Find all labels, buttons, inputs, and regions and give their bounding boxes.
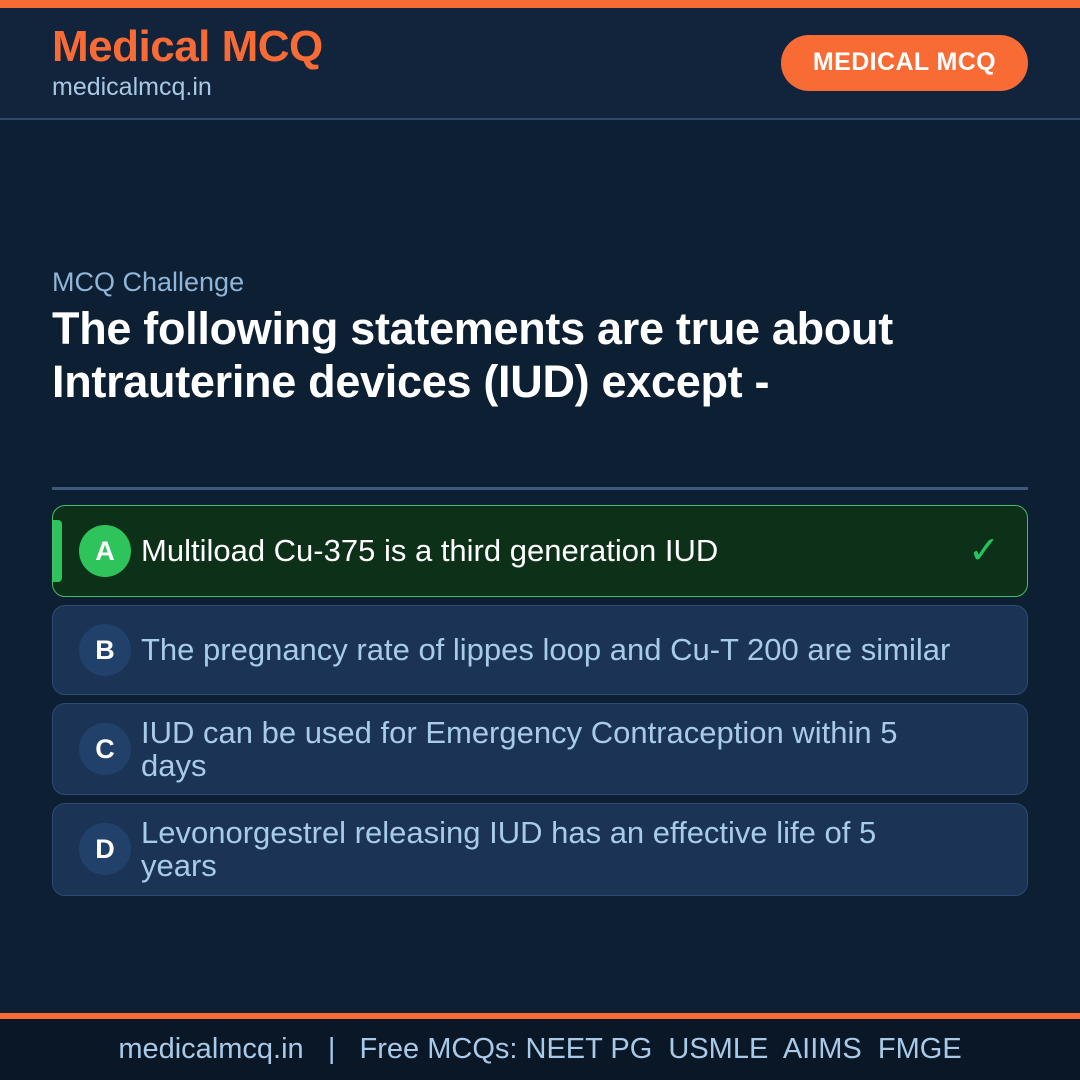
mcq-card: Medical MCQ medicalmcq.in MEDICAL MCQ MC…: [0, 0, 1080, 1080]
brand-subtitle: medicalmcq.in: [52, 72, 323, 102]
brand-title: Medical MCQ: [52, 24, 323, 71]
option-letter-badge-d: D: [79, 823, 131, 875]
check-icon: ✓: [963, 532, 1005, 570]
kicker-label: MCQ Challenge: [52, 268, 244, 298]
option-row-b[interactable]: B The pregnancy rate of lippes loop and …: [52, 605, 1028, 695]
option-row-c[interactable]: C IUD can be used for Emergency Contrace…: [52, 703, 1028, 795]
brand-badge: MEDICAL MCQ: [781, 35, 1028, 91]
section-divider: [52, 487, 1028, 490]
option-text-b: The pregnancy rate of lippes loop and Cu…: [141, 633, 963, 666]
option-text-d: Levonorgestrel releasing IUD has an effe…: [141, 816, 963, 882]
option-text-a: Multiload Cu-375 is a third generation I…: [141, 534, 963, 567]
footer-text: medicalmcq.in | Free MCQs: NEET PG USMLE…: [118, 1035, 961, 1064]
options-list: A Multiload Cu-375 is a third generation…: [52, 505, 1028, 896]
option-row-a[interactable]: A Multiload Cu-375 is a third generation…: [52, 505, 1028, 597]
brand-block: Medical MCQ medicalmcq.in: [52, 24, 323, 103]
top-accent-bar: [0, 0, 1080, 8]
option-letter-badge-c: C: [79, 723, 131, 775]
header: Medical MCQ medicalmcq.in MEDICAL MCQ: [0, 8, 1080, 120]
question-text: The following statements are true about …: [52, 302, 982, 408]
option-letter-badge-a: A: [79, 525, 131, 577]
option-text-c: IUD can be used for Emergency Contracept…: [141, 716, 963, 782]
correct-accent-bar: [53, 520, 62, 582]
option-letter-badge-b: B: [79, 624, 131, 676]
main-content: MCQ Challenge The following statements a…: [0, 120, 1080, 1013]
footer: medicalmcq.in | Free MCQs: NEET PG USMLE…: [0, 1019, 1080, 1080]
option-row-d[interactable]: D Levonorgestrel releasing IUD has an ef…: [52, 803, 1028, 895]
